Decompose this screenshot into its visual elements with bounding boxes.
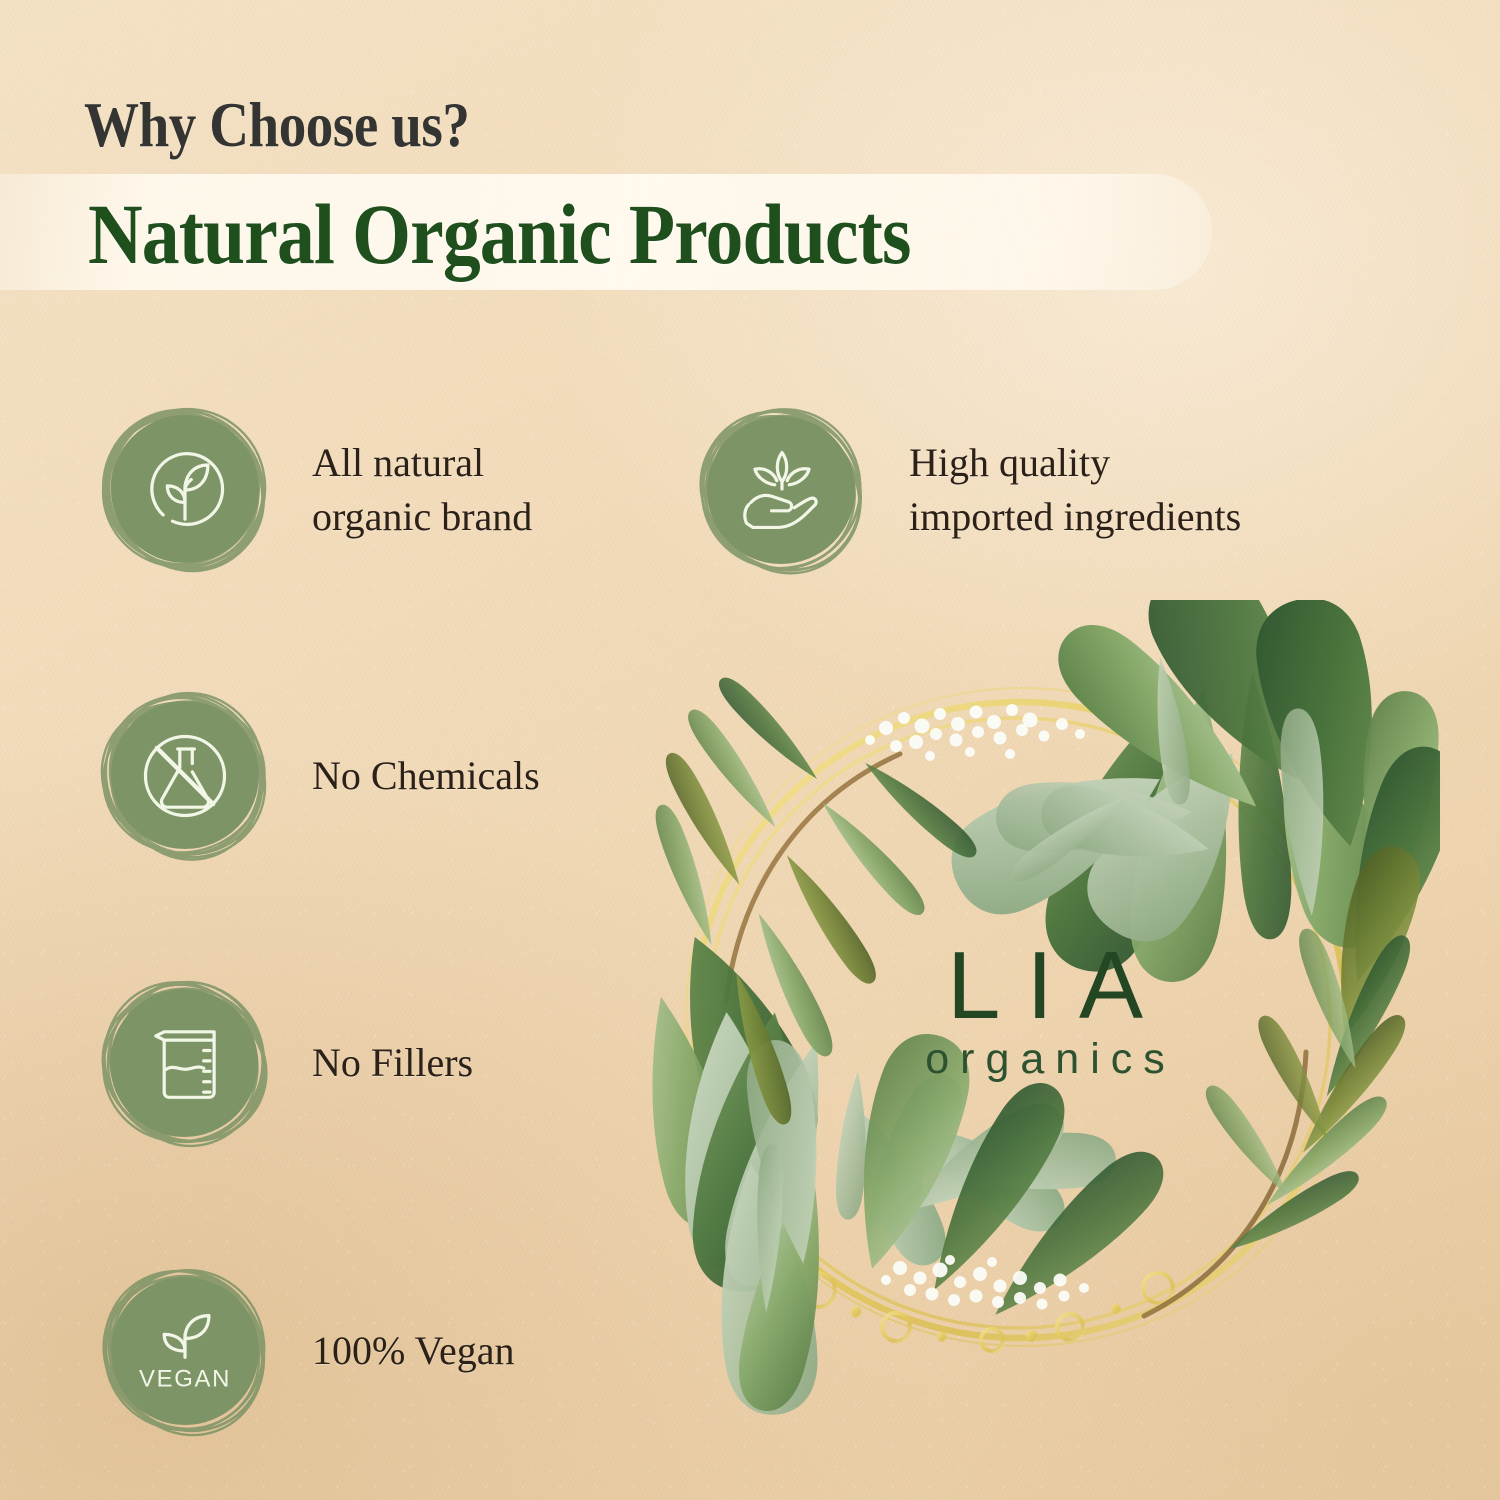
badge-no-chemicals	[94, 685, 276, 867]
feature-100-percent-vegan: VEGAN 100% Vegan	[94, 1260, 515, 1442]
badge-high-quality-imported-ingredients	[691, 399, 873, 581]
brand-lockup: LIA organics	[880, 940, 1210, 1084]
promo-banner: Why Choose us? Natural Organic Products	[0, 0, 1500, 1500]
hand-holding-leaves-icon	[730, 438, 834, 542]
page-eyebrow: Why Choose us?	[84, 88, 469, 162]
brand-name: LIA	[880, 940, 1210, 1031]
feature-no-fillers: No Fillers	[94, 972, 473, 1154]
feature-label: 100% Vegan	[312, 1324, 515, 1378]
beaker-icon	[133, 1011, 237, 1115]
feature-label: All natural organic brand	[312, 436, 532, 544]
vegan-badge-text: VEGAN	[139, 1365, 231, 1392]
badge-no-fillers	[94, 972, 276, 1154]
feature-all-natural-organic-brand: All natural organic brand	[94, 399, 532, 581]
no-flask-icon	[133, 724, 237, 828]
page-title: Natural Organic Products	[88, 184, 911, 284]
feature-no-chemicals: No Chemicals	[94, 685, 540, 867]
brand-tagline: organics	[880, 1035, 1210, 1084]
vegan-sprout-icon: VEGAN	[133, 1299, 237, 1403]
feature-label: High quality imported ingredients	[909, 436, 1241, 544]
feature-label: No Fillers	[312, 1036, 473, 1090]
sprout-in-circle-icon	[133, 438, 237, 542]
feature-high-quality-imported-ingredients: High quality imported ingredients	[691, 399, 1241, 581]
feature-label: No Chemicals	[312, 749, 540, 803]
badge-100-percent-vegan: VEGAN	[94, 1260, 276, 1442]
badge-all-natural-organic-brand	[94, 399, 276, 581]
